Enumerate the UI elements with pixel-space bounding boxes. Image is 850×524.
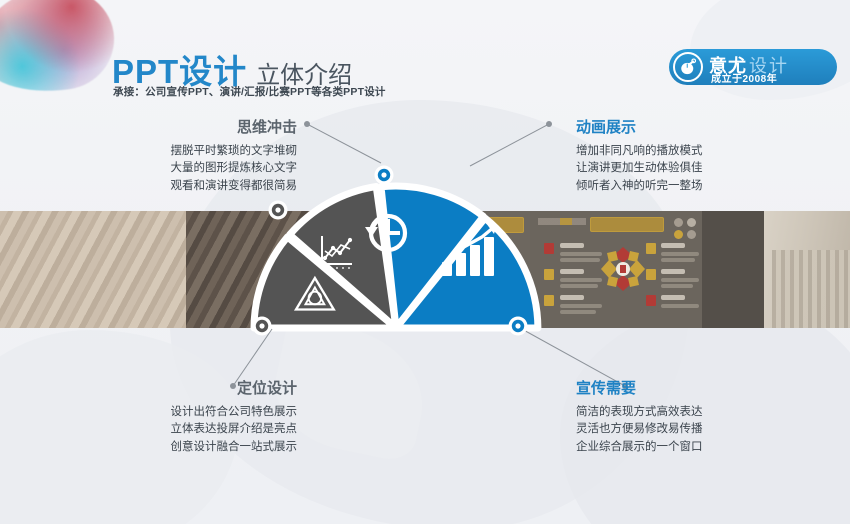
slide-b-row-icon: [646, 295, 656, 306]
slide-b-row-text: [661, 284, 693, 288]
slide-b-row-text: [661, 258, 695, 262]
callout-line: 设计出符合公司特色展示: [82, 404, 297, 422]
slide-b-row-title: [560, 295, 584, 300]
slide-b-row-text: [560, 304, 602, 308]
slide-canvas: PPT设计立体介绍 承接：公司宣传PPT、演讲/汇报/比赛PPT等各类PPT设计…: [0, 0, 850, 524]
dark-panel: [702, 211, 764, 328]
slide-b-row-text: [661, 278, 699, 282]
slide-b-row-title: [661, 243, 685, 248]
brand-logo[interactable]: 意尤 设计 成立于2008年: [669, 49, 837, 85]
slide-b-row-text: [560, 258, 600, 262]
callout-top-right: 动画展示 增加非同凡响的播放模式 让演讲更加生动体验俱佳 倾听者入神的听完一整场: [576, 120, 791, 196]
callout-line: 让演讲更加生动体验俱佳: [576, 160, 791, 178]
callout-line: 大量的图形提炼核心文字: [82, 160, 297, 178]
slide-b-row-icon: [646, 269, 656, 280]
slide-b-row-text: [560, 278, 602, 282]
callout-line: 简洁的表现方式高效表达: [576, 404, 791, 422]
octagon-diagram-graphic: [600, 246, 646, 292]
logo-established-text: 成立于2008年: [711, 70, 777, 85]
slide-b-title-badge: [590, 217, 664, 232]
slide-b-row-text: [661, 304, 699, 308]
callout-line: 企业综合展示的一个窗口: [576, 439, 791, 457]
slide-b-row-text: [560, 252, 602, 256]
slide-b-row-text: [661, 252, 699, 256]
callout-line: 观看和演讲变得都很简易: [82, 178, 297, 196]
callout-line: 立体表达投屏介绍是亮点: [82, 421, 297, 439]
callout-line: 创意设计融合一站式展示: [82, 439, 297, 457]
callout-top-left: 思维冲击 摆脱平时繁琐的文字堆砌 大量的图形提炼核心文字 观看和演讲变得都很简易: [82, 120, 297, 196]
wall-slats: [772, 250, 850, 328]
callout-line: 增加非同凡响的播放模式: [576, 143, 791, 161]
slide-b-row-title: [661, 269, 685, 274]
callout-heading: 思维冲击: [82, 120, 297, 137]
gradient-blob-decoration: [0, 0, 121, 101]
slide-b-row-title: [661, 295, 685, 300]
callout-heading: 定位设计: [82, 381, 297, 398]
slide-b-row-text: [560, 284, 598, 288]
page-subtitle: 承接：公司宣传PPT、演讲/汇报/比赛PPT等各类PPT设计: [113, 84, 386, 99]
slide-b-dot: [687, 230, 696, 239]
slide-b-dot: [674, 218, 683, 227]
slide-b-row-title: [560, 269, 584, 274]
slide-b-row-icon: [646, 243, 656, 254]
slide-b-dot: [674, 230, 683, 239]
mouse-in-circle-icon: [679, 58, 697, 76]
callout-bottom-right: 宣传需要 简洁的表现方式高效表达 灵活也方便易修改易传播 企业综合展示的一个窗口: [576, 381, 791, 457]
callout-line: 倾听者入神的听完一整场: [576, 178, 791, 196]
callout-line: 摆脱平时繁琐的文字堆砌: [82, 143, 297, 161]
slide-b-dot: [687, 218, 696, 227]
callout-line: 灵活也方便易修改易传播: [576, 421, 791, 439]
callout-bottom-left: 定位设计 设计出符合公司特色展示 立体表达投屏介绍是亮点 创意设计融合一站式展示: [82, 381, 297, 457]
slide-b-row-title: [560, 243, 584, 248]
callout-heading: 宣传需要: [576, 381, 791, 398]
slide-b-row-text: [560, 310, 596, 314]
wood-texture-light: [0, 211, 186, 328]
callout-heading: 动画展示: [576, 120, 791, 137]
